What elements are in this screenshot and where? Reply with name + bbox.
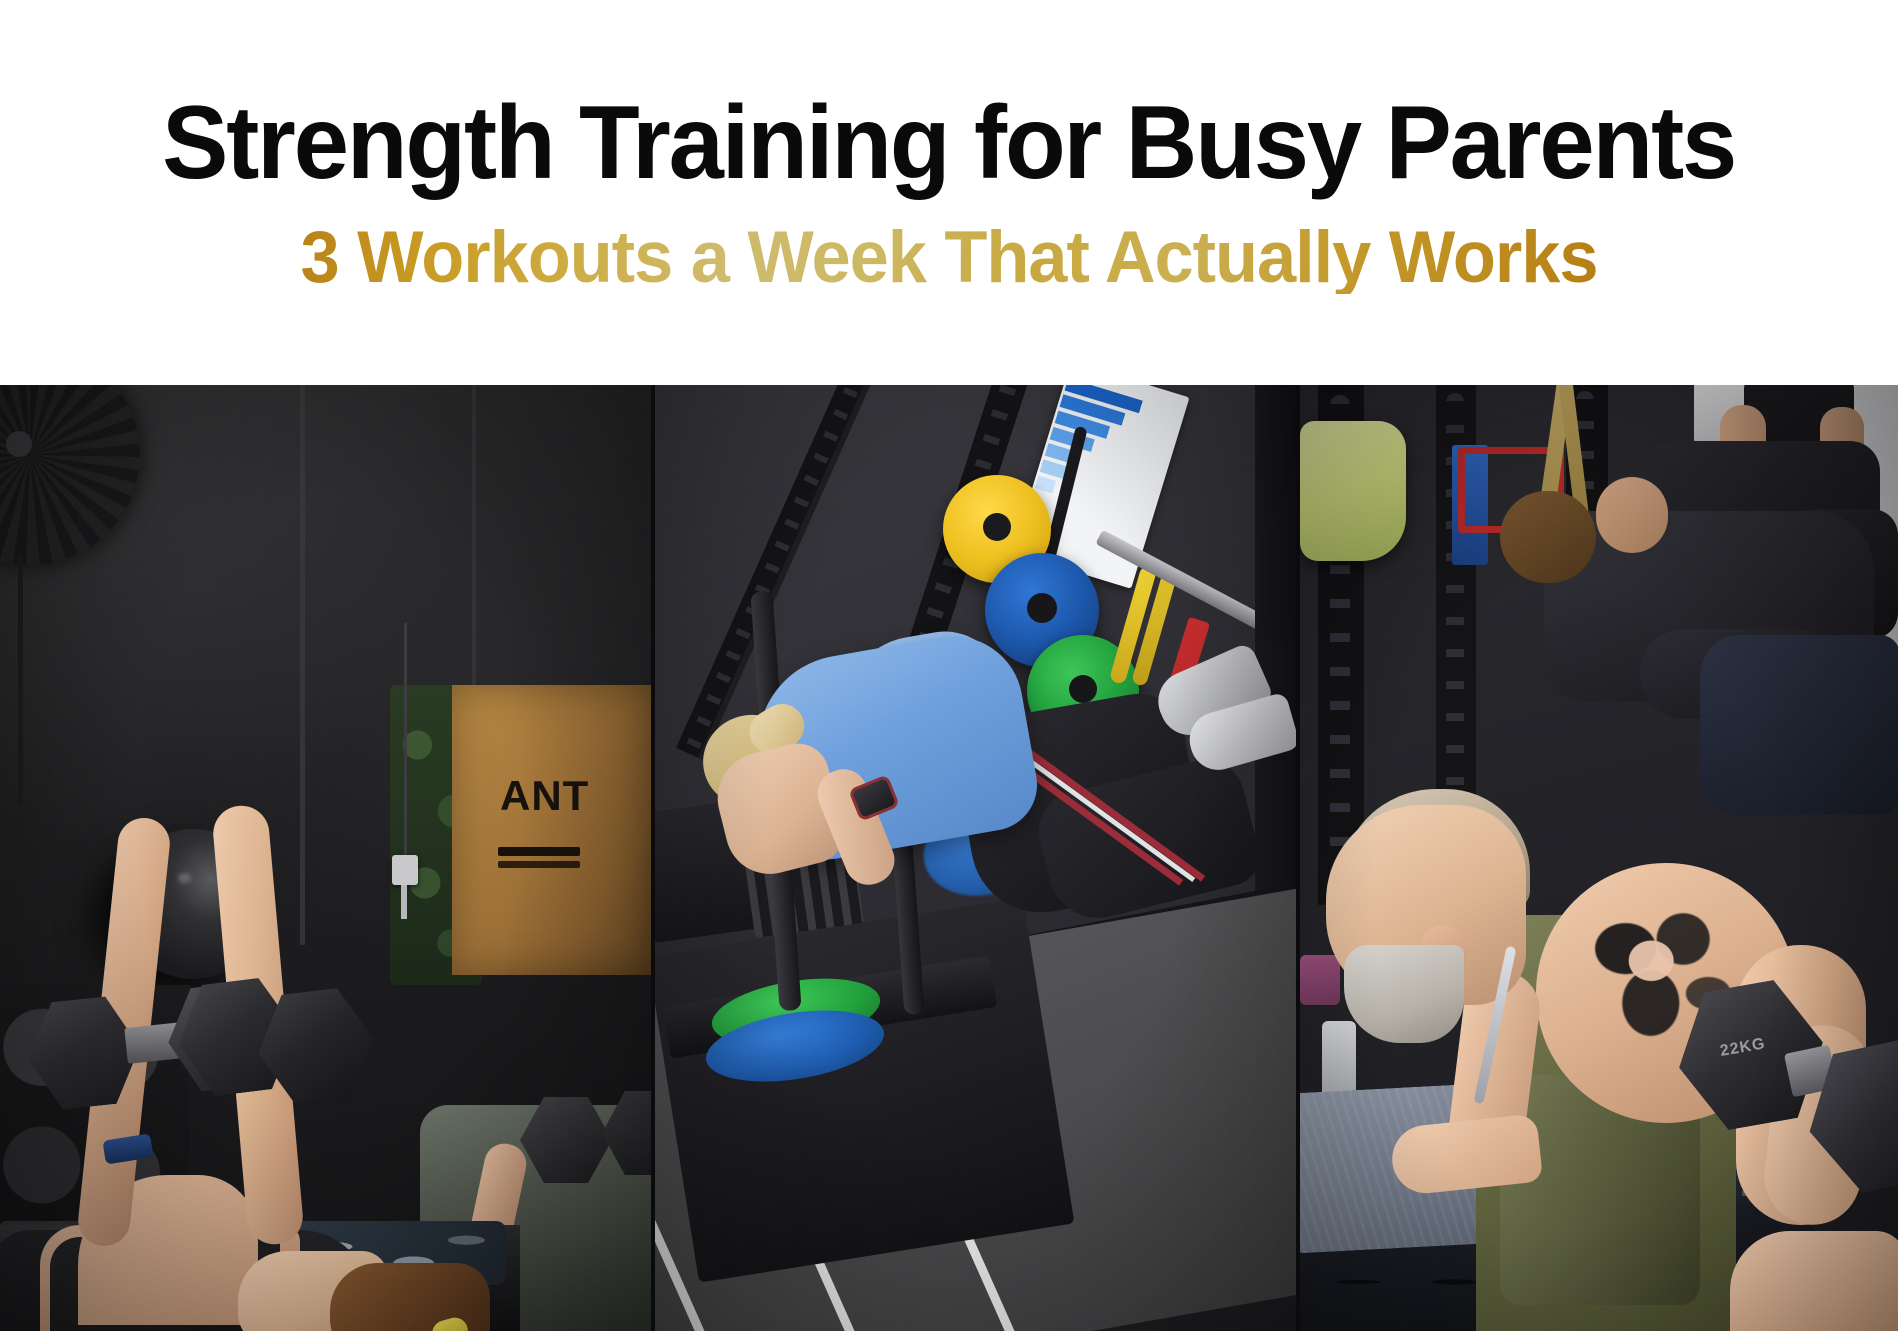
page-title: Strength Training for Busy Parents: [162, 91, 1735, 195]
photo-panel-dumbbell-bench-press: ANT: [0, 385, 655, 1331]
header-band: Strength Training for Busy Parents 3 Wor…: [0, 0, 1898, 385]
poster-canvas: Strength Training for Busy Parents 3 Wor…: [0, 0, 1898, 1331]
photo-panel-sled-push: [655, 385, 1300, 1331]
panel-vignette: [655, 385, 1300, 1331]
panel-vignette: [1300, 385, 1898, 1331]
page-subtitle: 3 Workouts a Week That Actually Works: [301, 221, 1598, 294]
photo-collage: ANT: [0, 385, 1898, 1331]
photo-panel-bent-over-row: 22KG: [1300, 385, 1898, 1331]
panel-vignette: [0, 385, 655, 1331]
